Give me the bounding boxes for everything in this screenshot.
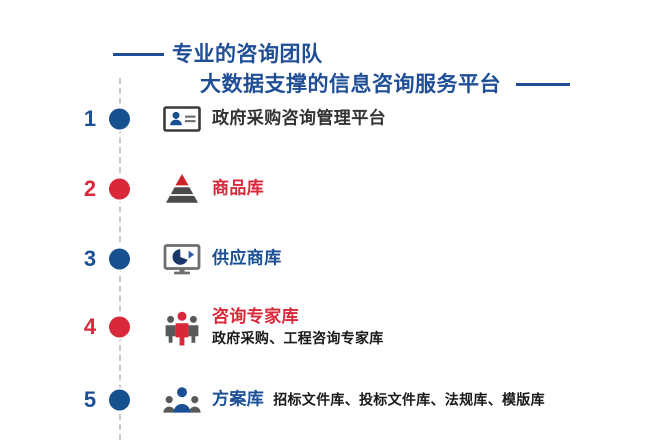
heading-line-1: 专业的咨询团队 [172,38,323,68]
monitor-chart-icon [161,238,203,280]
step-subtitle: 招标文件库、投标文件库、法规库、模版库 [273,391,545,410]
step-number: 3 [82,248,98,270]
step-number: 1 [82,108,98,130]
meeting-group-icon [161,379,203,421]
step-number: 4 [82,316,98,338]
step-marker-dot [109,179,130,200]
step-text-block: 供应商库 [212,248,282,271]
heading-block: 专业的咨询团队 大数据支撑的信息咨询服务平台 [0,18,660,80]
step-number: 2 [82,178,98,200]
step-marker-dot [109,109,130,130]
pyramid-icon [161,168,203,210]
step-marker-dot [109,390,130,411]
infographic-root: 专业的咨询团队 大数据支撑的信息咨询服务平台 1 政府采购咨询管理平台 2 [0,0,660,440]
step-title: 咨询专家库 [212,306,384,329]
list-item[interactable]: 5 方案库 招标文件库、投标文件库、法规库、模版库 [0,372,660,428]
list-item[interactable]: 4 咨询专家库 政府采购、工程咨询专家库 [0,296,660,358]
step-text-block: 商品库 [212,178,264,201]
list-item[interactable]: 1 政府采购咨询管理平台 [0,91,660,147]
step-marker-dot [109,317,130,338]
step-title: 商品库 [212,178,264,201]
step-text-block: 方案库 招标文件库、投标文件库、法规库、模版库 [212,389,545,412]
step-subtitle: 政府采购、工程咨询专家库 [212,329,384,348]
three-people-icon [161,306,203,348]
heading-rule-right-icon [516,83,570,86]
step-title: 方案库 [212,389,264,412]
step-title: 供应商库 [212,248,282,271]
step-marker-dot [109,249,130,270]
step-number: 5 [82,389,98,411]
id-card-icon [161,98,203,140]
step-text-block: 咨询专家库 政府采购、工程咨询专家库 [212,306,384,348]
list-item[interactable]: 3 供应商库 [0,231,660,287]
list-item[interactable]: 2 商品库 [0,161,660,217]
step-text-block: 政府采购咨询管理平台 [212,108,386,131]
step-title: 政府采购咨询管理平台 [212,108,386,131]
heading-rule-left-icon [113,53,164,56]
